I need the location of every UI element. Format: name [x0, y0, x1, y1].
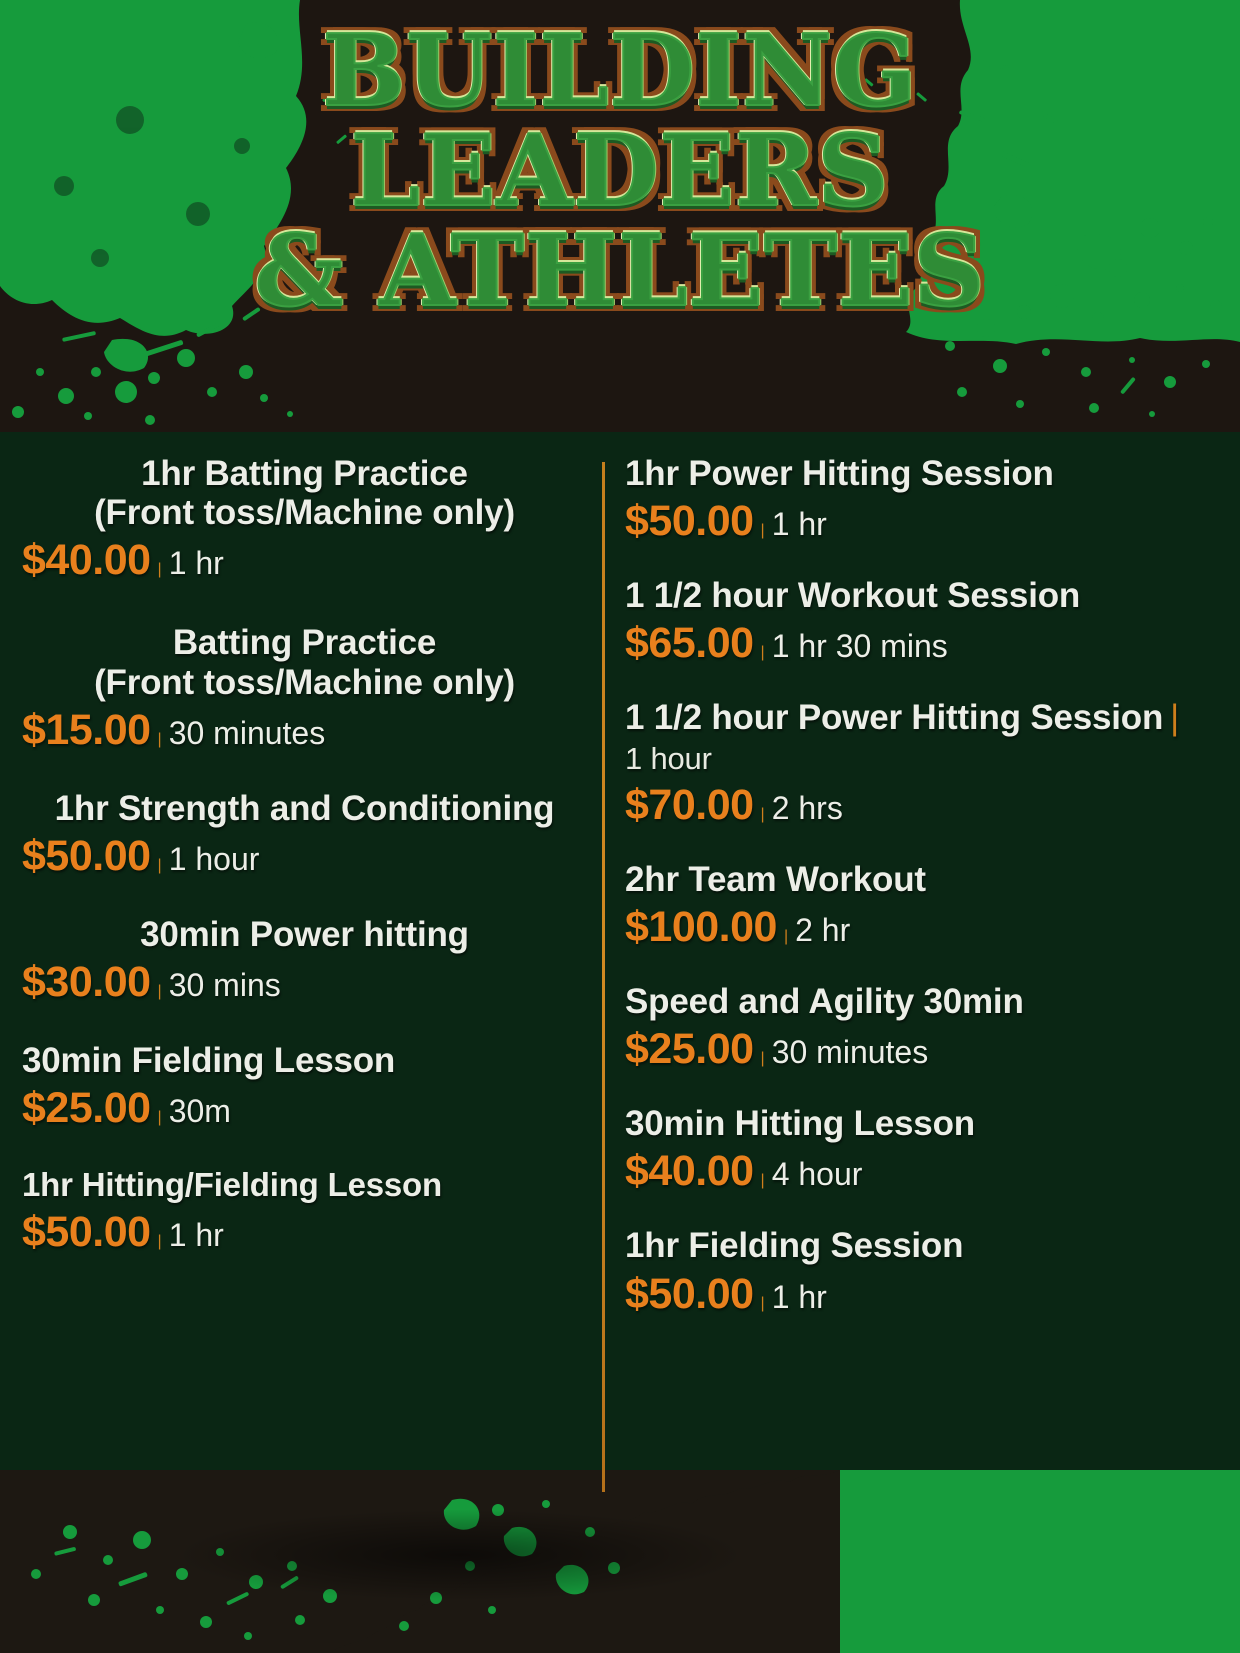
service-name: 1 1/2 hour Workout Session	[625, 576, 1190, 615]
service-duration: 1 hour	[169, 841, 260, 878]
service-price: $30.00	[22, 958, 151, 1007]
service-duration: 30 minutes	[772, 1034, 929, 1071]
service-price: $40.00	[22, 536, 151, 585]
service-item[interactable]: 30min Hitting Lesson $40.00 | 4 hour	[625, 1104, 1190, 1196]
service-item[interactable]: 1hr Hitting/Fielding Lesson $50.00 | 1 h…	[22, 1167, 587, 1257]
separator-icon: |	[1163, 698, 1186, 737]
service-item[interactable]: Speed and Agility 30min $25.00 | 30 minu…	[625, 982, 1190, 1074]
services-right-column: 1hr Power Hitting Session $50.00 | 1 hr …	[625, 432, 1190, 1345]
separator-icon: |	[754, 806, 772, 824]
service-name: 1 1/2 hour Power Hitting Session|1 hour	[625, 698, 1190, 776]
service-price: $50.00	[22, 1208, 151, 1257]
separator-icon: |	[151, 1233, 169, 1251]
service-price: $100.00	[625, 903, 777, 952]
service-price: $70.00	[625, 781, 754, 830]
separator-icon: |	[151, 983, 169, 1001]
service-name-text: 1 1/2 hour Power Hitting Session	[625, 698, 1163, 737]
poster-footer	[0, 1470, 1240, 1653]
separator-icon: |	[754, 1172, 772, 1190]
services-panel: 1hr Batting Practice (Front toss/Machine…	[0, 432, 1240, 1470]
separator-icon: |	[754, 644, 772, 662]
service-price: $15.00	[22, 706, 151, 755]
separator-icon: |	[754, 1295, 772, 1313]
service-name: 30min Fielding Lesson	[22, 1041, 587, 1080]
service-name: 1hr Hitting/Fielding Lesson	[22, 1167, 587, 1204]
service-name: 1hr Power Hitting Session	[625, 454, 1190, 493]
service-name: 1hr Strength and Conditioning	[22, 789, 587, 828]
separator-icon: |	[754, 522, 772, 540]
service-duration: 1 hr	[169, 1217, 224, 1254]
service-item[interactable]: 30min Power hitting $30.00 | 30 mins	[22, 915, 587, 1007]
service-item[interactable]: 1 1/2 hour Workout Session $65.00 | 1 hr…	[625, 576, 1190, 668]
service-duration: 30 mins	[169, 967, 281, 1004]
service-price: $25.00	[625, 1025, 754, 1074]
poster-header: Building Leaders & Athletes	[0, 0, 1240, 432]
service-name: 30min Power hitting	[22, 915, 587, 954]
service-duration: 4 hour	[772, 1156, 863, 1193]
separator-icon: |	[777, 928, 795, 946]
title-line-2: Leaders	[0, 124, 1240, 220]
pricing-poster: Building Leaders & Athletes 1hr Batting …	[0, 0, 1240, 1653]
poster-title: Building Leaders & Athletes	[0, 24, 1240, 320]
service-item[interactable]: 2hr Team Workout $100.00 | 2 hr	[625, 860, 1190, 952]
service-duration: 1 hr	[772, 506, 827, 543]
service-price: $50.00	[22, 832, 151, 881]
separator-icon: |	[754, 1050, 772, 1068]
footer-shadow	[180, 1510, 740, 1600]
service-name: 30min Hitting Lesson	[625, 1104, 1190, 1143]
service-inline-duration: 1 hour	[625, 741, 712, 776]
service-item[interactable]: 1 1/2 hour Power Hitting Session|1 hour …	[625, 698, 1190, 829]
separator-icon: |	[151, 561, 169, 579]
service-item[interactable]: 1hr Power Hitting Session $50.00 | 1 hr	[625, 454, 1190, 546]
service-item[interactable]: 1hr Fielding Session $50.00 | 1 hr	[625, 1226, 1190, 1318]
service-name-secondary: (Front toss/Machine only)	[22, 663, 587, 702]
service-item[interactable]: 30min Fielding Lesson $25.00 | 30m	[22, 1041, 587, 1133]
services-left-column: 1hr Batting Practice (Front toss/Machine…	[22, 432, 587, 1283]
service-name-secondary: (Front toss/Machine only)	[22, 493, 587, 532]
separator-icon: |	[151, 731, 169, 749]
service-price: $65.00	[625, 619, 754, 668]
service-price: $50.00	[625, 497, 754, 546]
service-name: 1hr Batting Practice	[22, 454, 587, 493]
service-name: Batting Practice	[22, 623, 587, 662]
service-price: $50.00	[625, 1270, 754, 1319]
service-duration: 30m	[169, 1093, 231, 1130]
service-price: $25.00	[22, 1084, 151, 1133]
service-name: 2hr Team Workout	[625, 860, 1190, 899]
service-duration: 1 hr	[772, 1279, 827, 1316]
service-item[interactable]: Batting Practice (Front toss/Machine onl…	[22, 623, 587, 754]
service-name: Speed and Agility 30min	[625, 982, 1190, 1021]
service-duration: 2 hr	[795, 912, 850, 949]
service-price: $40.00	[625, 1147, 754, 1196]
service-duration: 30 minutes	[169, 715, 326, 752]
separator-icon: |	[151, 857, 169, 875]
service-duration: 1 hr 30 mins	[772, 628, 948, 665]
service-item[interactable]: 1hr Strength and Conditioning $50.00 | 1…	[22, 789, 587, 881]
title-line-1: Building	[0, 24, 1240, 120]
title-line-3: & Athletes	[0, 224, 1240, 320]
column-divider	[602, 462, 605, 1492]
service-duration: 1 hr	[169, 545, 224, 582]
service-name: 1hr Fielding Session	[625, 1226, 1190, 1265]
service-item[interactable]: 1hr Batting Practice (Front toss/Machine…	[22, 454, 587, 585]
separator-icon: |	[151, 1109, 169, 1127]
service-duration: 2 hrs	[772, 790, 843, 827]
